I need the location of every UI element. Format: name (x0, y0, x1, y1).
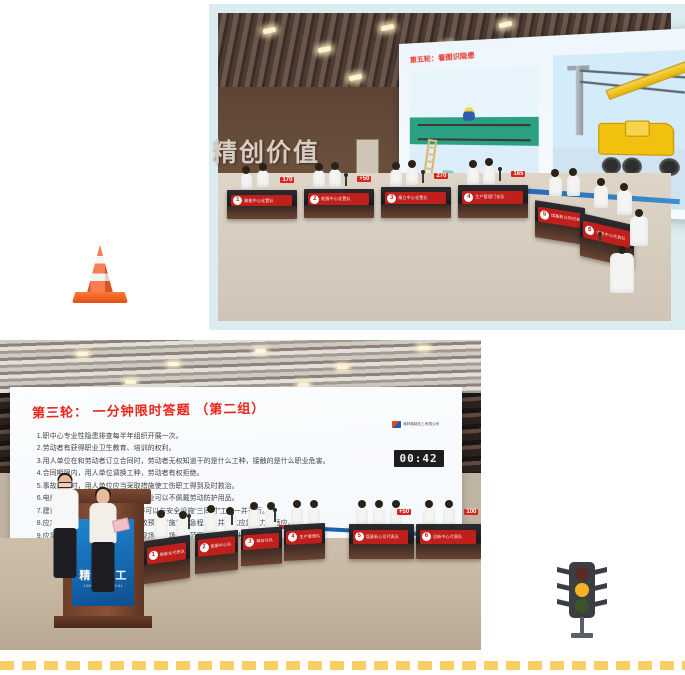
team-score: 165 (511, 171, 525, 177)
team-number: 5 (540, 210, 549, 220)
team-desk[interactable]: 3 精益化队 (241, 526, 282, 566)
team-nameplate: 6 设新中心代表队 (584, 221, 631, 249)
team-number: 1 (149, 551, 158, 561)
seated-participant (406, 167, 418, 185)
seated-participant (630, 216, 648, 246)
team-score: 170 (280, 177, 294, 183)
seated-participant (154, 517, 168, 539)
team-number: 5 (355, 532, 364, 541)
venue-wall-text: 精创价值 (212, 133, 320, 169)
light-visor (594, 583, 607, 591)
crane-wheel (602, 157, 621, 175)
red-light (575, 567, 589, 581)
team-desk[interactable]: 270 3 精立中心化置队 (381, 187, 451, 218)
seated-participant (617, 190, 632, 215)
cable-line (418, 123, 531, 125)
team-name: 生产管理门化队 (475, 194, 504, 200)
seated-participant (248, 509, 260, 529)
logo-mark-icon (392, 421, 401, 428)
team-number: 1 (233, 196, 242, 205)
team-nameplate: 3 精立中心化置队 (385, 192, 445, 204)
team-number: 6 (422, 532, 431, 541)
microphone-icon (231, 514, 233, 525)
seated-participant (610, 253, 634, 293)
team-number: 6 (586, 225, 595, 236)
bottom-photo: 第三轮： 一分钟限时答题 （第二组） 1.职中心专业性隐患排查每半年组织开展一次… (0, 340, 481, 650)
slide-title: 第五轮：看图识隐患 (410, 50, 475, 65)
team-name: 煤基新公司代表队 (551, 213, 581, 224)
seated-participant (483, 165, 495, 184)
team-number: 3 (387, 194, 396, 203)
team-name: 能服中心化置队 (321, 196, 350, 202)
team-desk[interactable]: 1 榆能化代表队 (144, 535, 190, 585)
dashed-divider (0, 661, 685, 670)
crane-boom (605, 53, 685, 99)
bottom-photo-frame: 第三轮： 一分钟限时答题 （第二组） 1.职中心专业性隐患排查每半年组织开展一次… (0, 340, 481, 650)
seated-participant (567, 175, 580, 196)
cartoon-worker-icon (462, 107, 476, 123)
ceiling-lamp-icon (255, 349, 266, 353)
team-name: 生产管理队 (299, 533, 320, 540)
team-nameplate: 1 榆能中心化置队 (231, 195, 291, 207)
team-number: 2 (199, 543, 208, 553)
ceiling-lamp-icon (77, 352, 88, 356)
slide-line: 2.劳动者有获得职业卫生教育、培训的权利。 (37, 443, 435, 456)
team-score: 100 (464, 509, 478, 515)
team-desk[interactable]: 100 6 设新中心代表队 (416, 524, 481, 558)
countdown-timer: 00:42 (394, 450, 444, 467)
team-nameplate: 4 生产管理门化队 (462, 191, 522, 204)
microphone-icon (274, 511, 276, 522)
top-photo-frame: 精创价值 第五轮：看图识隐患 (209, 4, 685, 330)
cone-body (80, 245, 120, 295)
team-desk[interactable]: 4 生产管理队 (284, 523, 325, 561)
team-nameplate: 1 榆能化代表队 (147, 543, 186, 566)
seated-participant (257, 170, 269, 187)
green-light (575, 599, 589, 613)
top-photo: 精创价值 第五轮：看图识隐患 (218, 13, 671, 321)
slide-line: 4.合同期限内，用人单位调换工种，劳动者有权拒绝。 (37, 468, 435, 481)
seated-participant (549, 176, 562, 196)
team-name: 能服中心队 (210, 542, 231, 550)
trousers (53, 528, 76, 578)
seated-participant (594, 185, 608, 208)
ceiling-lamp-icon (337, 365, 348, 369)
yellow-light (575, 583, 589, 597)
team-name: 榆能化代表队 (160, 548, 185, 558)
seated-participant (204, 512, 217, 533)
team-number: 4 (288, 533, 297, 542)
team-nameplate: 2 能服中心化置队 (308, 193, 368, 205)
microphone-icon (188, 517, 190, 529)
utility-pole-icon (576, 66, 583, 136)
team-desk[interactable]: 170 1 榆能中心化置队 (227, 190, 297, 219)
team-nameplate: 6 设新中心代表队 (420, 530, 476, 544)
trousers (92, 542, 115, 592)
team-desk[interactable]: 2 能服中心队 (195, 530, 238, 575)
seated-participant (467, 167, 479, 185)
logo-text: 榆林榆能化工有限公司 (403, 422, 439, 427)
light-visor (594, 599, 607, 607)
traffic-cone-icon (72, 245, 128, 303)
ceiling-lamp-icon (125, 380, 136, 384)
slide-title: 第三轮： 一分钟限时答题 （第二组） (32, 398, 266, 422)
head (97, 489, 110, 504)
light-visor (594, 567, 607, 575)
team-nameplate: 3 精益化队 (243, 532, 278, 549)
team-nameplate: 5 煤基新公司代表队 (538, 206, 581, 228)
team-nameplate: 4 生产管理队 (286, 529, 321, 545)
microphone-icon (599, 235, 601, 249)
light-base (571, 633, 593, 638)
slide-line: 1.职中心专业性隐患排查每半年组织开展一次。 (37, 431, 435, 444)
team-desk[interactable]: +50 5 煤基新公司代表队 (349, 524, 414, 558)
seated-participant (390, 169, 402, 186)
team-name: 设新中心代表队 (597, 229, 626, 242)
team-desk[interactable]: +50 2 能服中心化置队 (304, 189, 374, 218)
team-nameplate: 2 能服中心队 (197, 537, 234, 557)
team-name: 设新中心代表队 (433, 534, 462, 540)
team-name: 榆能中心化置队 (244, 198, 273, 204)
team-score: 270 (434, 173, 448, 179)
ceiling-lamp-icon (418, 346, 429, 350)
podium-base (54, 616, 152, 629)
team-score: +50 (397, 509, 411, 515)
team-score: +50 (357, 176, 371, 182)
team-number: 2 (310, 195, 319, 204)
team-desk[interactable]: 5 煤基新公司代表队 (535, 200, 585, 245)
team-nameplate: 5 煤基新公司代表队 (353, 530, 409, 544)
team-name: 煤基新公司代表队 (366, 534, 400, 540)
microphone-icon (422, 173, 424, 183)
slide-line: 3.用人单位在和劳动者订立合同时，劳动者无权知道干的是什么工种，接触的是什么职业… (37, 456, 435, 469)
seated-participant (329, 169, 341, 187)
team-name: 精立中心化置队 (398, 195, 427, 201)
ceiling-lamp-icon (168, 362, 179, 366)
microphone-icon (499, 170, 501, 181)
seated-participant (241, 173, 252, 189)
microphone-icon (345, 176, 347, 186)
glasses-icon (57, 482, 72, 488)
seated-participant (313, 170, 325, 187)
cone-base (72, 292, 128, 303)
team-number: 4 (464, 193, 473, 202)
crane-cab (626, 120, 651, 136)
team-name: 精益化队 (256, 537, 273, 544)
shirt (51, 489, 78, 529)
vertical-traffic-light-icon (556, 562, 608, 640)
ladder-icon (424, 139, 438, 175)
company-logo: 榆林榆能化工有限公司 (392, 421, 439, 428)
team-desk[interactable]: 165 4 生产管理门化队 (458, 185, 528, 217)
team-number: 3 (245, 537, 254, 547)
